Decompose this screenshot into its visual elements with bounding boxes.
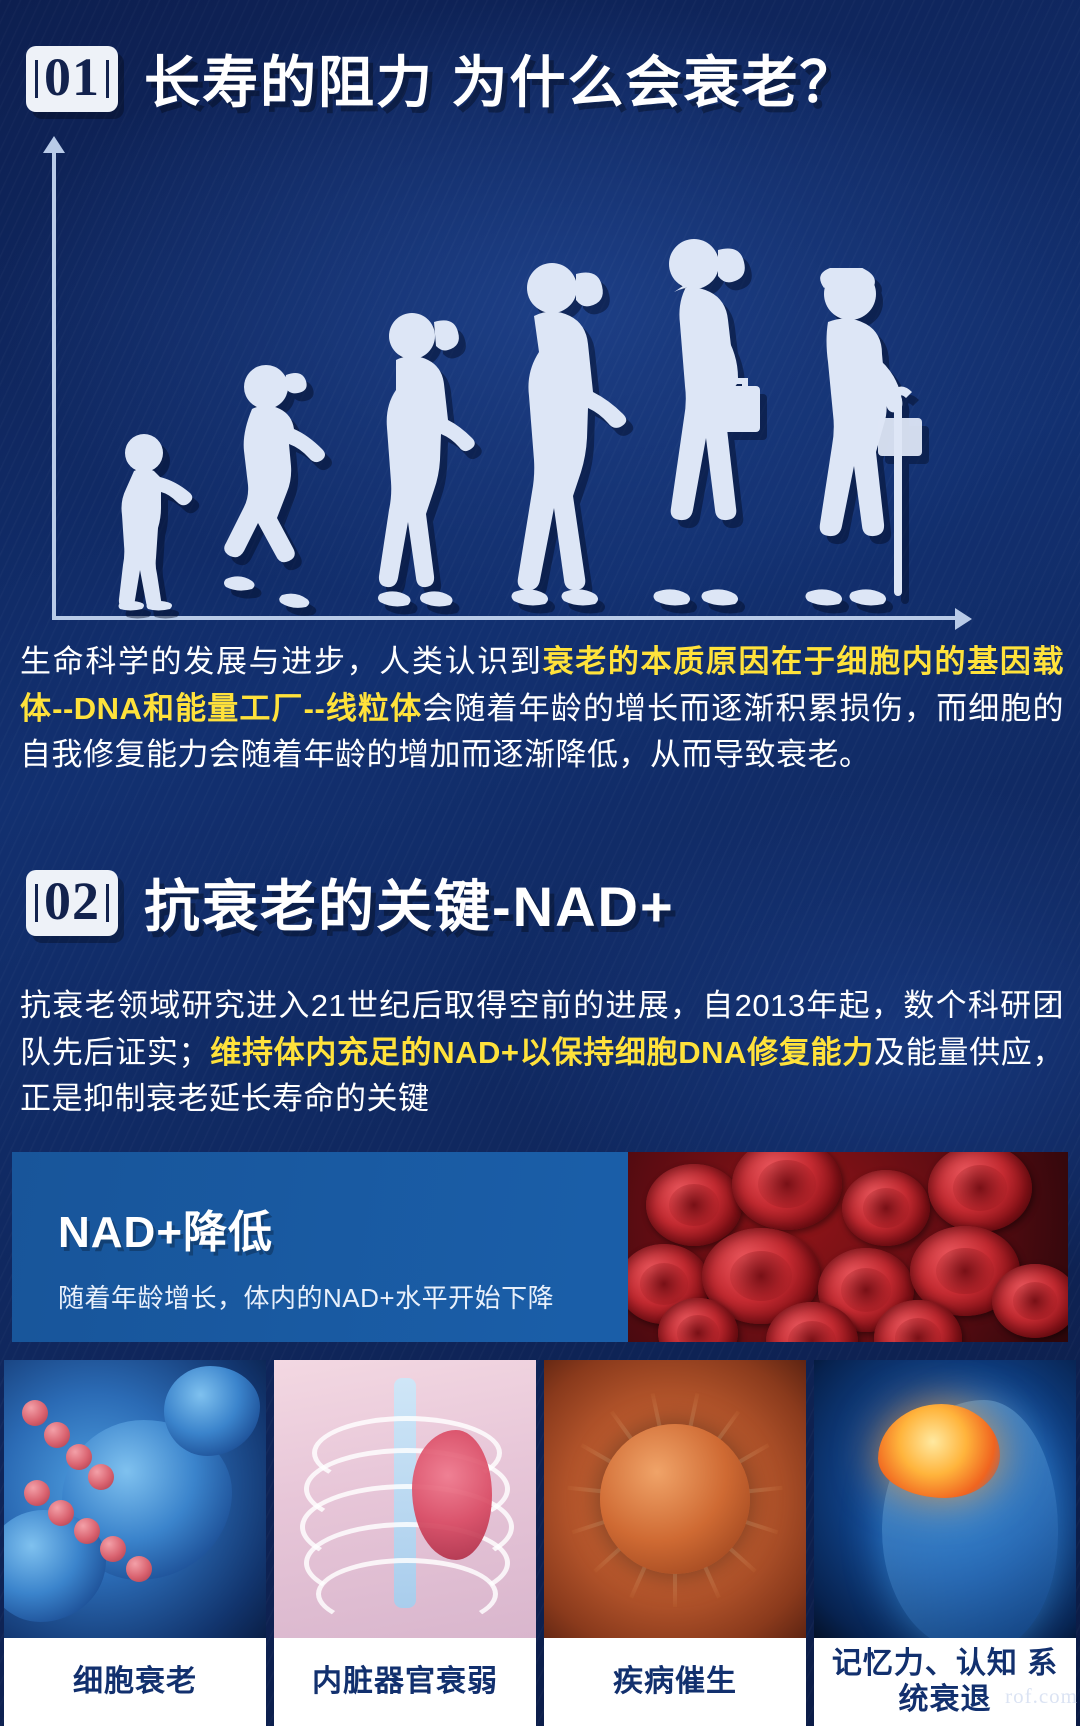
consequence-card-label: 细胞衰老 (4, 1638, 266, 1726)
consequence-card-label: 疾病催生 (544, 1638, 806, 1726)
vertical-axis (52, 150, 56, 620)
red-blood-cells-photo (628, 1152, 1068, 1342)
section-heading-01: 01 长寿的阻力 为什么会衰老？ (26, 38, 858, 119)
section-number-badge-02: 02 (26, 870, 118, 936)
silhouette-group (60, 190, 960, 618)
watermark-text: rof.com (1005, 1684, 1078, 1709)
nad-decline-card: NAD+降低 随着年龄增长，体内的NAD+水平开始下降 (12, 1152, 1068, 1342)
section-title-01: 长寿的阻力 为什么会衰老？ (144, 38, 858, 119)
silhouette-girl (208, 363, 358, 618)
consequence-card-grid: 细胞衰老 内脏器官衰弱 (0, 1360, 1080, 1726)
nad-card-text: NAD+降低 随着年龄增长，体内的NAD+水平开始下降 (12, 1152, 628, 1342)
poster-page: 01 长寿的阻力 为什么会衰老？ (0, 0, 1080, 1726)
section-number-02: 02 (44, 871, 100, 931)
nad-card-subtitle: 随着年龄增长，体内的NAD+水平开始下降 (58, 1278, 628, 1315)
paragraph-02: 抗衰老领域研究进入21世纪后取得空前的进展，自2013年起，数个科研团队先后证实… (20, 983, 1064, 1123)
consequence-card-label: 内脏器官衰弱 (274, 1638, 536, 1726)
section-number-01: 01 (44, 47, 100, 107)
axis-arrow-up-icon (43, 136, 65, 153)
aging-stages-illustration (0, 130, 1080, 640)
aging-cell-micrograph (4, 1360, 266, 1638)
chest-organs-xray (274, 1360, 536, 1638)
paragraph-02-highlight: 维持体内充足的NAD+以保持细胞DNA修复能力 (210, 1035, 874, 1070)
silhouette-teen (350, 308, 500, 618)
consequence-card-disease[interactable]: 疾病催生 (544, 1360, 806, 1726)
consequence-card-cognitive-decline[interactable]: 记忆力、认知 系统衰退 (814, 1360, 1076, 1726)
consequence-card-cell-aging[interactable]: 细胞衰老 (4, 1360, 266, 1726)
paragraph-01: 生命科学的发展与进步，人类认识到衰老的本质原因在于细胞内的基因载体--DNA和能… (20, 639, 1064, 779)
brain-cognition-scan (814, 1360, 1076, 1638)
consequence-card-organ-weakness[interactable]: 内脏器官衰弱 (274, 1360, 536, 1726)
virus-microbe-micrograph (544, 1360, 806, 1638)
consequence-card-label: 记忆力、认知 系统衰退 (814, 1638, 1076, 1726)
section-number-badge-01: 01 (26, 46, 118, 112)
nad-card-title: NAD+降低 (58, 1196, 628, 1260)
section-title-02: 抗衰老的关键-NAD+ (144, 862, 675, 943)
silhouette-elderly (766, 268, 956, 618)
section-heading-02: 02 抗衰老的关键-NAD+ (26, 862, 675, 943)
silhouette-child (100, 433, 210, 618)
paragraph-01-part-1: 生命科学的发展与进步，人类认识到 (20, 644, 543, 679)
